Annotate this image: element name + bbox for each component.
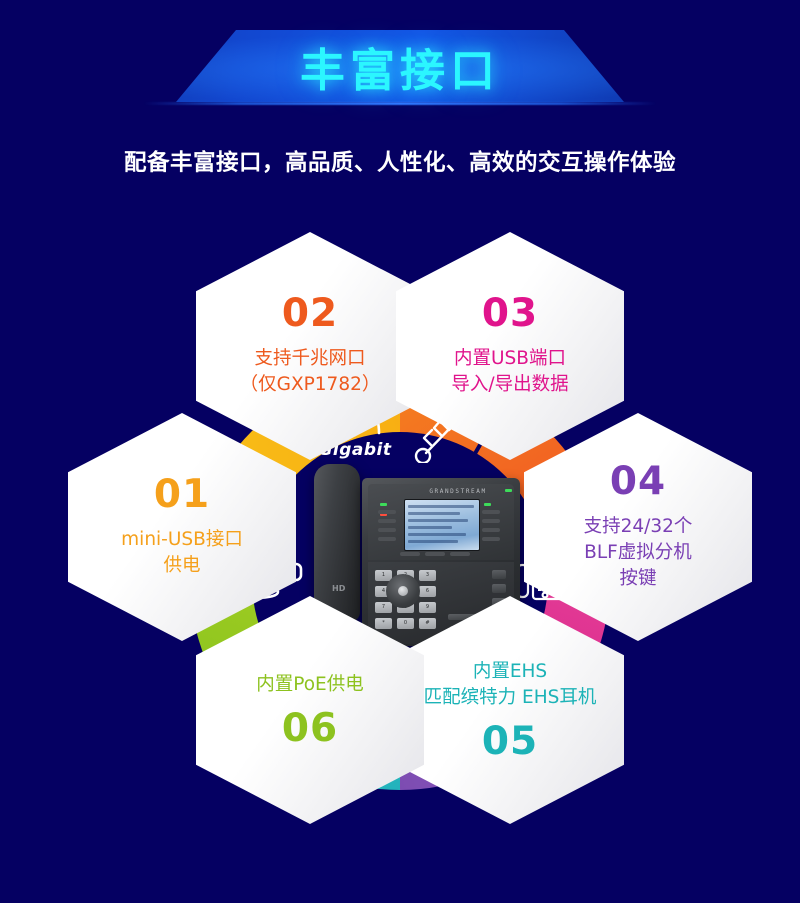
hd-label: HD — [332, 584, 352, 594]
keypad-key[interactable]: * — [375, 618, 392, 629]
keypad-key[interactable]: 7 — [375, 602, 392, 613]
keypad-key[interactable]: 9 — [419, 602, 436, 613]
card-number: 05 — [482, 722, 538, 761]
card-line: mini-USB接口 — [121, 527, 243, 553]
menu-soft-key[interactable] — [425, 552, 445, 556]
card-number: 02 — [282, 294, 338, 333]
keypad-key[interactable]: 0 — [397, 618, 414, 629]
keypad-key[interactable]: # — [419, 618, 436, 629]
page-subtitle: 配备丰富接口，高品质、人性化、高效的交互操作体验 — [0, 145, 800, 177]
card-number: 01 — [154, 475, 210, 514]
soft-key[interactable] — [482, 519, 500, 523]
navigation-ok-button[interactable] — [398, 586, 408, 596]
function-key[interactable] — [492, 570, 506, 579]
keypad-key[interactable]: 6 — [419, 586, 436, 597]
page-title: 丰富接口 — [0, 30, 800, 102]
soft-key[interactable] — [482, 537, 500, 541]
card-line: 内置USB端口 — [454, 346, 566, 372]
phone-lcd-screen — [404, 499, 480, 551]
soft-key[interactable] — [378, 519, 396, 523]
card-number: 06 — [282, 709, 338, 748]
card-number: 03 — [482, 294, 538, 333]
card-line: 支持千兆网口 — [254, 346, 365, 372]
card-line: 导入/导出数据 — [451, 372, 568, 398]
line-led — [484, 503, 491, 506]
function-key[interactable] — [492, 584, 506, 593]
soft-key[interactable] — [482, 528, 500, 532]
soft-key[interactable] — [378, 510, 396, 514]
feature-diagram: Gigabit — [0, 218, 800, 878]
card-number: 04 — [610, 462, 666, 501]
card-line: 匹配缤特力 EHS耳机 — [424, 685, 597, 711]
phone-brand-label: GRANDSTREAM — [418, 488, 498, 496]
menu-soft-key[interactable] — [450, 552, 470, 556]
soft-key[interactable] — [482, 510, 500, 514]
title-banner: 丰富接口 — [0, 30, 800, 102]
card-line: BLF虚拟分机 — [584, 540, 692, 566]
card-line: 按键 — [619, 566, 656, 592]
status-led — [505, 489, 512, 492]
keypad-key[interactable]: 3 — [419, 570, 436, 581]
soft-key[interactable] — [378, 528, 396, 532]
card-line: （仅GXP1782） — [240, 372, 381, 398]
phone-handset: HD — [314, 464, 360, 622]
line-led — [380, 503, 387, 506]
menu-soft-key[interactable] — [400, 552, 420, 556]
card-line: 供电 — [163, 553, 200, 579]
card-line: 内置PoE供电 — [256, 672, 364, 698]
banner-underline — [0, 102, 800, 105]
soft-key[interactable] — [378, 537, 396, 541]
card-line: 支持24/32个 — [584, 514, 693, 540]
card-line: 内置EHS — [473, 659, 547, 685]
